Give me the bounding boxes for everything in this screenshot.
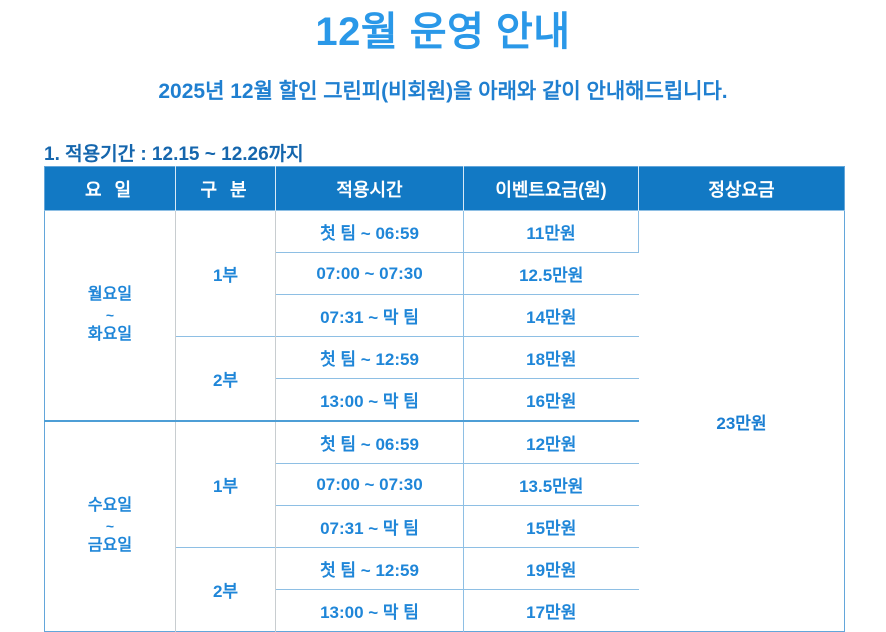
cell-time-range: 07:31 ~ 막 팀	[276, 295, 464, 337]
cell-event-fee: 11만원	[464, 211, 639, 253]
cell-part-label: 2부	[176, 337, 276, 422]
table-header-row: 요 일 구 분 적용시간 이벤트요금(원) 정상요금	[45, 167, 845, 211]
cell-time-range: 07:31 ~ 막 팀	[276, 506, 464, 548]
page-title: 12월 운영 안내	[0, 8, 886, 56]
column-header-event-fee: 이벤트요금(원)	[464, 167, 639, 211]
day-label: 월요일	[45, 283, 175, 308]
day-range-separator: ~	[45, 308, 175, 323]
section-heading-period: 1. 적용기간 : 12.15 ~ 12.26까지	[44, 139, 304, 166]
cell-time-range: 첫 팀 ~ 12:59	[276, 548, 464, 590]
column-header-normal-fee: 정상요금	[639, 167, 845, 211]
cell-event-fee: 15만원	[464, 506, 639, 548]
day-range-separator: ~	[45, 519, 175, 534]
cell-time-range: 첫 팀 ~ 06:59	[276, 211, 464, 253]
cell-time-range: 첫 팀 ~ 12:59	[276, 337, 464, 379]
cell-time-range: 13:00 ~ 막 팀	[276, 590, 464, 632]
cell-event-fee: 12.5만원	[464, 253, 639, 295]
column-header-day: 요 일	[45, 167, 176, 211]
green-fee-table-wrapper: 요 일 구 분 적용시간 이벤트요금(원) 정상요금 월요일~화요일1부첫 팀 …	[44, 166, 844, 632]
cell-part-label: 1부	[176, 421, 276, 548]
cell-time-range: 07:00 ~ 07:30	[276, 253, 464, 295]
cell-event-fee: 18만원	[464, 337, 639, 379]
cell-day-range: 수요일~금요일	[45, 421, 176, 632]
cell-event-fee: 19만원	[464, 548, 639, 590]
cell-event-fee: 16만원	[464, 379, 639, 422]
page-subtitle: 2025년 12월 할인 그린피(비회원)을 아래와 같이 안내해드립니다.	[0, 79, 886, 105]
green-fee-table: 요 일 구 분 적용시간 이벤트요금(원) 정상요금 월요일~화요일1부첫 팀 …	[44, 166, 845, 632]
day-label: 수요일	[45, 494, 175, 519]
table-row: 월요일~화요일1부첫 팀 ~ 06:5911만원23만원	[45, 211, 845, 253]
table-head: 요 일 구 분 적용시간 이벤트요금(원) 정상요금	[45, 167, 845, 211]
cell-day-range: 월요일~화요일	[45, 211, 176, 422]
cell-event-fee: 12만원	[464, 421, 639, 464]
cell-part-label: 1부	[176, 211, 276, 337]
table-body: 월요일~화요일1부첫 팀 ~ 06:5911만원23만원07:00 ~ 07:3…	[45, 211, 845, 632]
cell-time-range: 13:00 ~ 막 팀	[276, 379, 464, 422]
notice-page: 12월 운영 안내 2025년 12월 할인 그린피(비회원)을 아래와 같이 …	[0, 0, 886, 631]
cell-event-fee: 17만원	[464, 590, 639, 632]
cell-part-label: 2부	[176, 548, 276, 632]
cell-time-range: 첫 팀 ~ 06:59	[276, 421, 464, 464]
cell-event-fee: 13.5만원	[464, 464, 639, 506]
day-label: 금요일	[45, 534, 175, 559]
cell-event-fee: 14만원	[464, 295, 639, 337]
cell-time-range: 07:00 ~ 07:30	[276, 464, 464, 506]
day-label: 화요일	[45, 323, 175, 348]
column-header-time: 적용시간	[276, 167, 464, 211]
column-header-part: 구 분	[176, 167, 276, 211]
cell-normal-fee: 23만원	[639, 211, 845, 632]
